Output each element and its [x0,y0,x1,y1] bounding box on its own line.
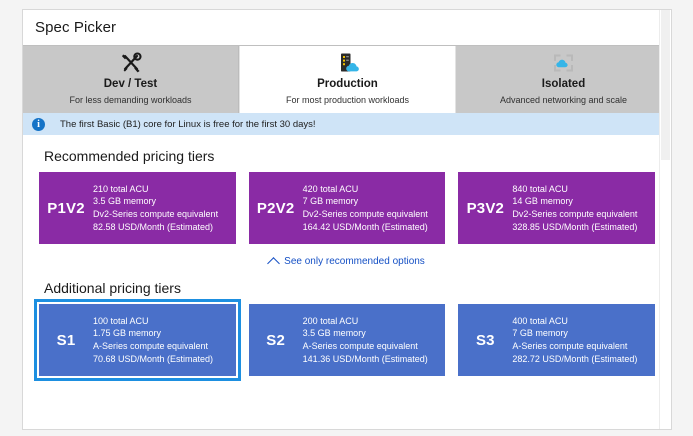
pricing-card-specs: 400 total ACU 7 GB memory A-Series compu… [512,315,643,365]
pricing-card-sku: P1V2 [39,200,93,217]
spec-compute: A-Series compute equivalent [512,340,637,353]
spec-acu: 420 total ACU [303,183,428,196]
pricing-card-specs: 200 total ACU 3.5 GB memory A-Series com… [303,315,434,365]
pricing-card-sku: S3 [458,332,512,349]
see-only-recommended-label: See only recommended options [284,256,425,267]
page-title: Spec Picker [35,19,116,36]
isolated-cloud-icon [552,50,575,76]
spec-price: 82.58 USD/Month (Estimated) [93,221,218,234]
spec-memory: 3.5 GB memory [303,327,428,340]
pricing-card-sku: P2V2 [249,200,303,217]
spec-picker-screen: Spec Picker Dev / Te [0,0,693,436]
spec-acu: 100 total ACU [93,315,213,328]
pricing-card-p1v2[interactable]: P1V2 210 total ACU 3.5 GB memory Dv2-Ser… [39,172,236,244]
tab-production[interactable]: Production For most production workloads [239,46,456,113]
spec-price: 282.72 USD/Month (Estimated) [512,353,637,366]
pricing-card-s2[interactable]: S2 200 total ACU 3.5 GB memory A-Series … [249,304,446,376]
spec-memory: 7 GB memory [512,327,637,340]
tab-isolated[interactable]: Isolated Advanced networking and scale [456,46,671,113]
spec-compute: Dv2-Series compute equivalent [512,208,637,221]
spec-price: 328.85 USD/Month (Estimated) [512,221,637,234]
spec-memory: 3.5 GB memory [93,195,218,208]
recommended-heading: Recommended pricing tiers [44,148,655,164]
panel-titlebar: Spec Picker [23,10,671,45]
tier-category-tabs: Dev / Test For less demanding workloads [23,45,671,113]
spec-acu: 200 total ACU [303,315,428,328]
spec-picker-panel: Spec Picker Dev / Te [22,9,672,430]
spec-price: 164.42 USD/Month (Estimated) [303,221,428,234]
pricing-card-specs: 840 total ACU 14 GB memory Dv2-Series co… [512,183,643,233]
spec-price: 141.36 USD/Month (Estimated) [303,353,428,366]
pricing-card-specs: 100 total ACU 1.75 GB memory A-Series co… [93,315,219,365]
additional-heading: Additional pricing tiers [44,280,655,296]
pricing-card-p3v2[interactable]: P3V2 840 total ACU 14 GB memory Dv2-Seri… [458,172,655,244]
tab-isolated-label: Isolated [542,77,585,91]
tools-icon [120,50,142,76]
vertical-scrollbar[interactable] [659,10,671,429]
tab-dev-test[interactable]: Dev / Test For less demanding workloads [23,46,239,113]
pricing-card-sku: S2 [249,332,303,349]
chevron-up-icon [267,257,280,270]
pricing-card-sku: P3V2 [458,200,512,217]
tab-isolated-subtitle: Advanced networking and scale [500,95,627,106]
spec-price: 70.68 USD/Month (Estimated) [93,353,213,366]
spec-compute: A-Series compute equivalent [303,340,428,353]
scrollbar-thumb[interactable] [661,10,670,160]
toggle-recommended-row: See only recommended options [39,256,655,267]
pricing-card-p2v2[interactable]: P2V2 420 total ACU 7 GB memory Dv2-Serie… [249,172,446,244]
tab-production-label: Production [317,77,378,91]
server-cloud-icon [336,50,360,76]
info-banner-text: The first Basic (B1) core for Linux is f… [60,119,316,130]
pricing-card-specs: 210 total ACU 3.5 GB memory Dv2-Series c… [93,183,224,233]
spec-memory: 14 GB memory [512,195,637,208]
spec-compute: Dv2-Series compute equivalent [303,208,428,221]
see-only-recommended-link[interactable]: See only recommended options [269,256,425,267]
info-banner: i The first Basic (B1) core for Linux is… [23,113,671,135]
pricing-card-s3[interactable]: S3 400 total ACU 7 GB memory A-Series co… [458,304,655,376]
tab-dev-test-label: Dev / Test [104,77,157,91]
spec-compute: A-Series compute equivalent [93,340,213,353]
additional-card-row: S1 100 total ACU 1.75 GB memory A-Series… [39,304,655,376]
spec-acu: 400 total ACU [512,315,637,328]
spec-memory: 1.75 GB memory [93,327,213,340]
pricing-card-s1[interactable]: S1 100 total ACU 1.75 GB memory A-Series… [39,304,236,376]
spec-acu: 210 total ACU [93,183,218,196]
info-icon: i [32,118,45,131]
pricing-tiers-content: Recommended pricing tiers P1V2 210 total… [23,148,671,376]
spec-acu: 840 total ACU [512,183,637,196]
recommended-card-row: P1V2 210 total ACU 3.5 GB memory Dv2-Ser… [39,172,655,244]
pricing-card-sku: S1 [39,332,93,349]
tab-dev-test-subtitle: For less demanding workloads [69,95,191,106]
pricing-card-specs: 420 total ACU 7 GB memory Dv2-Series com… [303,183,434,233]
spec-compute: Dv2-Series compute equivalent [93,208,218,221]
spec-memory: 7 GB memory [303,195,428,208]
tab-production-subtitle: For most production workloads [286,95,409,106]
